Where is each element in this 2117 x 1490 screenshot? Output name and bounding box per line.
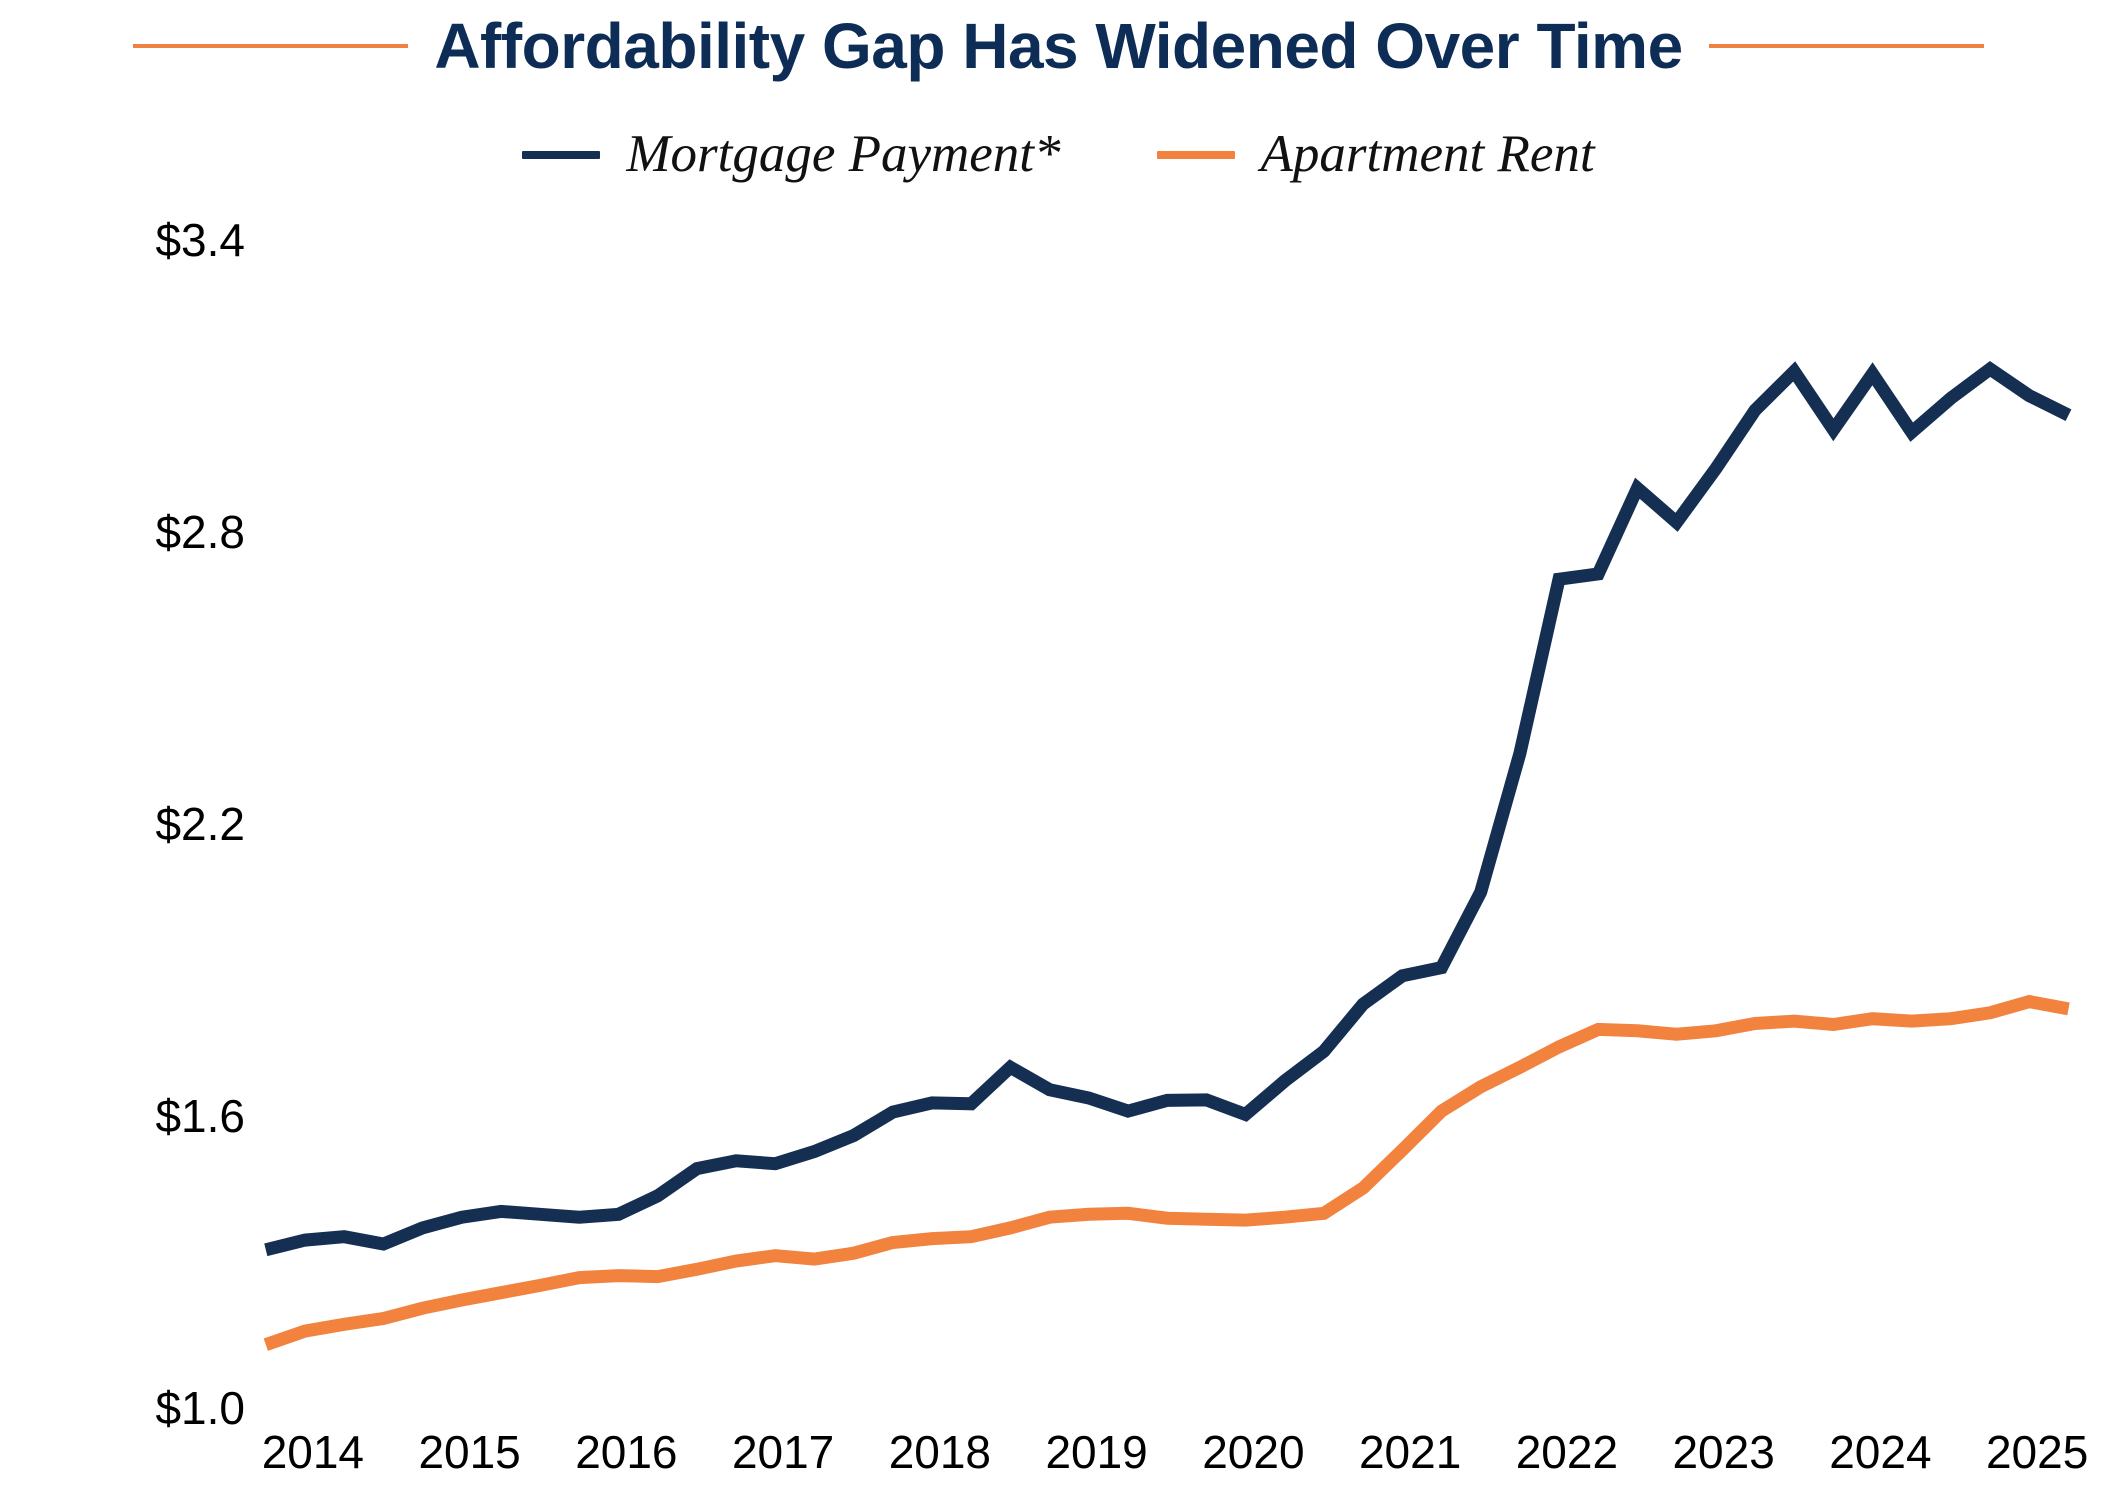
chart-series-layer (266, 369, 2069, 1345)
y-axis-tick-labels: $1.0$1.6$2.2$2.8$3.4 (155, 214, 245, 1434)
x-axis-tick-labels: 2014201520162017201820192020202120222023… (262, 1426, 2089, 1478)
y-tick-label: $2.2 (155, 798, 245, 850)
series-line-apartment-rent (266, 1002, 2069, 1345)
x-tick-label: 2023 (1672, 1426, 1774, 1478)
x-tick-label: 2015 (418, 1426, 520, 1478)
x-tick-label: 2019 (1045, 1426, 1147, 1478)
x-tick-label: 2020 (1202, 1426, 1304, 1478)
x-tick-label: 2014 (262, 1426, 364, 1478)
x-tick-label: 2017 (732, 1426, 834, 1478)
x-tick-label: 2016 (575, 1426, 677, 1478)
y-tick-label: $1.0 (155, 1382, 245, 1434)
y-tick-label: $3.4 (155, 214, 245, 266)
x-tick-label: 2018 (889, 1426, 991, 1478)
x-tick-label: 2024 (1829, 1426, 1931, 1478)
y-tick-label: $1.6 (155, 1090, 245, 1142)
y-tick-label: $2.8 (155, 506, 245, 558)
x-tick-label: 2022 (1516, 1426, 1618, 1478)
line-chart: $1.0$1.6$2.2$2.8$3.4 2014201520162017201… (0, 0, 2117, 1490)
series-line-mortgage-payment (266, 369, 2069, 1250)
x-tick-label: 2021 (1359, 1426, 1461, 1478)
x-tick-label: 2025 (1986, 1426, 2088, 1478)
